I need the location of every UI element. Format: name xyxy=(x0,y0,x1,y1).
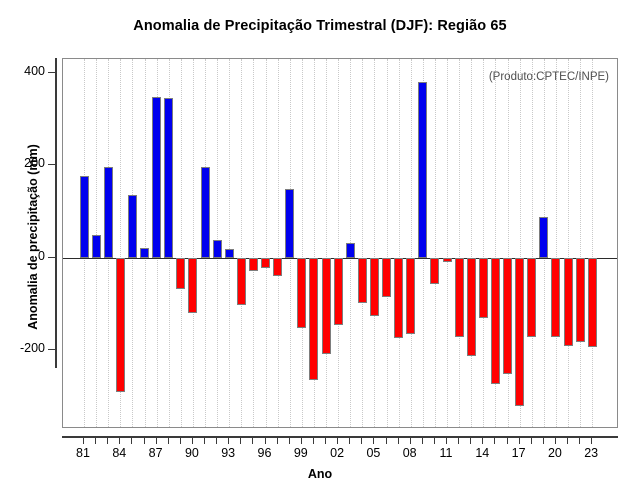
bar-1987 xyxy=(152,97,161,257)
x-tick-label: 96 xyxy=(245,446,285,460)
source-annotation: (Produto:CPTEC/INPE) xyxy=(489,71,609,83)
bar-2000 xyxy=(309,258,318,380)
bar-1988 xyxy=(164,98,173,258)
bar-1994 xyxy=(237,258,246,305)
bar-2019 xyxy=(539,217,548,258)
x-tick xyxy=(361,438,362,444)
x-tick-label: 11 xyxy=(426,446,466,460)
x-tick-label: 81 xyxy=(63,446,103,460)
gridline xyxy=(411,59,413,427)
bar-1982 xyxy=(92,235,101,258)
y-tick xyxy=(48,349,56,350)
gridline xyxy=(181,59,183,427)
bar-1984 xyxy=(116,258,125,392)
gridline xyxy=(459,59,461,427)
x-tick xyxy=(494,438,495,444)
gridline xyxy=(568,59,570,427)
bar-2020 xyxy=(551,258,560,337)
x-tick xyxy=(543,438,544,444)
x-tick xyxy=(107,438,108,444)
bar-2007 xyxy=(394,258,403,338)
bar-2003 xyxy=(346,243,355,258)
gridline xyxy=(483,59,485,427)
gridline xyxy=(145,59,147,427)
bar-1991 xyxy=(201,167,210,258)
x-tick xyxy=(398,438,399,444)
gridline xyxy=(278,59,280,427)
x-tick-label: 05 xyxy=(353,446,393,460)
x-tick xyxy=(531,438,532,444)
x-tick-label: 90 xyxy=(172,446,212,460)
bar-2013 xyxy=(467,258,476,356)
x-tick xyxy=(410,438,411,444)
gridline xyxy=(592,59,594,427)
bar-2009 xyxy=(418,82,427,258)
x-tick xyxy=(204,438,205,444)
gridline xyxy=(302,59,304,427)
bar-1998 xyxy=(285,189,294,257)
x-tick xyxy=(265,438,266,444)
bar-2006 xyxy=(382,258,391,297)
gridline xyxy=(193,59,195,427)
bar-2018 xyxy=(527,258,536,338)
x-tick xyxy=(144,438,145,444)
x-tick xyxy=(301,438,302,444)
page-title: Anomalia de Precipitação Trimestral (DJF… xyxy=(0,18,640,34)
bar-2017 xyxy=(515,258,524,406)
x-tick xyxy=(313,438,314,444)
x-tick xyxy=(252,438,253,444)
x-tick xyxy=(434,438,435,444)
bar-2002 xyxy=(334,258,343,326)
x-tick-label: 20 xyxy=(535,446,575,460)
gridline xyxy=(471,59,473,427)
x-tick xyxy=(119,438,120,444)
x-tick-label: 08 xyxy=(390,446,430,460)
y-tick xyxy=(48,72,56,73)
x-tick xyxy=(422,438,423,444)
bar-2004 xyxy=(358,258,367,303)
bar-1981 xyxy=(80,176,89,258)
x-tick-label: 17 xyxy=(499,446,539,460)
gridline xyxy=(532,59,534,427)
gridline xyxy=(435,59,437,427)
x-tick-label: 23 xyxy=(571,446,611,460)
x-tick xyxy=(507,438,508,444)
x-tick xyxy=(131,438,132,444)
x-tick xyxy=(95,438,96,444)
x-tick xyxy=(519,438,520,444)
x-tick xyxy=(579,438,580,444)
x-axis-title: Ano xyxy=(0,467,640,481)
bar-1993 xyxy=(225,249,234,258)
y-axis-title: Anomalia de precipitação (mm) xyxy=(26,107,40,367)
bar-1996 xyxy=(261,258,270,268)
x-axis-line xyxy=(62,436,618,438)
x-tick-label: 87 xyxy=(136,446,176,460)
x-tick xyxy=(156,438,157,444)
x-tick xyxy=(180,438,181,444)
x-tick xyxy=(470,438,471,444)
x-tick xyxy=(337,438,338,444)
x-tick xyxy=(458,438,459,444)
bar-1999 xyxy=(297,258,306,328)
x-tick xyxy=(228,438,229,444)
y-tick xyxy=(48,257,56,258)
x-tick xyxy=(386,438,387,444)
gridline xyxy=(338,59,340,427)
bar-2023 xyxy=(588,258,597,347)
chart-page: Anomalia de Precipitação Trimestral (DJF… xyxy=(0,0,640,500)
bar-1986 xyxy=(140,248,149,258)
x-tick xyxy=(482,438,483,444)
bar-2014 xyxy=(479,258,488,318)
x-tick-label: 84 xyxy=(99,446,139,460)
bar-2022 xyxy=(576,258,585,342)
bar-2021 xyxy=(564,258,573,346)
x-tick xyxy=(373,438,374,444)
x-tick xyxy=(83,438,84,444)
y-tick xyxy=(48,164,56,165)
plot-area: (Produto:CPTEC/INPE) xyxy=(62,58,618,428)
bar-1992 xyxy=(213,240,222,258)
bar-2012 xyxy=(455,258,464,338)
gridline xyxy=(580,59,582,427)
bar-1995 xyxy=(249,258,258,271)
gridline xyxy=(399,59,401,427)
x-tick xyxy=(277,438,278,444)
x-tick-label: 99 xyxy=(281,446,321,460)
gridline xyxy=(387,59,389,427)
x-tick-label: 14 xyxy=(462,446,502,460)
x-tick-label: 02 xyxy=(317,446,357,460)
gridline xyxy=(326,59,328,427)
bar-2015 xyxy=(491,258,500,384)
x-tick xyxy=(289,438,290,444)
x-tick xyxy=(240,438,241,444)
bar-2011 xyxy=(443,258,452,262)
bar-2005 xyxy=(370,258,379,316)
x-tick xyxy=(567,438,568,444)
gridline xyxy=(374,59,376,427)
bar-1997 xyxy=(273,258,282,277)
x-tick xyxy=(349,438,350,444)
gridline xyxy=(362,59,364,427)
x-tick xyxy=(325,438,326,444)
bar-1989 xyxy=(176,258,185,289)
x-tick xyxy=(446,438,447,444)
x-tick xyxy=(591,438,592,444)
x-tick xyxy=(168,438,169,444)
bar-2008 xyxy=(406,258,415,334)
x-tick xyxy=(192,438,193,444)
gridline xyxy=(447,59,449,427)
gridline xyxy=(253,59,255,427)
x-tick-label: 93 xyxy=(208,446,248,460)
gridline xyxy=(229,59,231,427)
bar-2010 xyxy=(430,258,439,284)
bar-1983 xyxy=(104,167,113,258)
bar-2001 xyxy=(322,258,331,354)
x-tick xyxy=(216,438,217,444)
y-tick-label: 400 xyxy=(0,64,45,78)
bar-2016 xyxy=(503,258,512,374)
bar-1990 xyxy=(188,258,197,314)
gridline xyxy=(241,59,243,427)
x-tick xyxy=(555,438,556,444)
y-axis-line xyxy=(55,58,57,368)
gridline xyxy=(266,59,268,427)
gridline xyxy=(556,59,558,427)
bar-1985 xyxy=(128,195,137,258)
